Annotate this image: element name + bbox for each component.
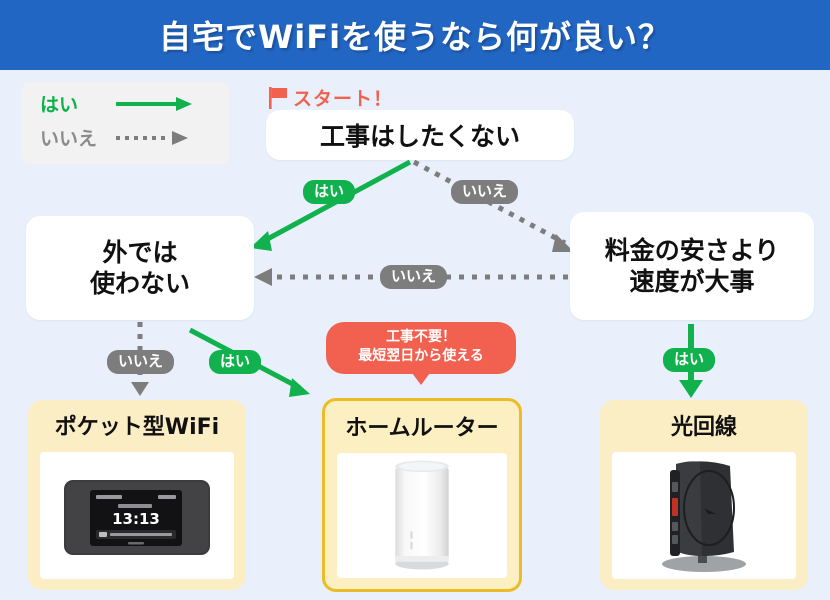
legend-label-yes: はい bbox=[40, 90, 114, 117]
callout-line1: 工事不要！ bbox=[326, 328, 516, 347]
card-title-home-router: ホームルーター bbox=[325, 401, 519, 442]
start-label-text: スタート！ bbox=[293, 84, 393, 111]
result-card-pocket-wifi[interactable]: ポケット型WiFi 13:13 bbox=[28, 400, 246, 590]
legend-label-no: いいえ bbox=[40, 124, 114, 151]
edge-start-to-left-yes bbox=[250, 162, 410, 251]
result-card-fiber[interactable]: 光回線 bbox=[600, 400, 808, 590]
badge-middle-no: いいえ bbox=[380, 265, 447, 289]
node-left-line1: 外では bbox=[90, 237, 190, 268]
legend-box: はい いいえ bbox=[22, 82, 230, 164]
result-card-home-router[interactable]: ホームルーター bbox=[322, 398, 522, 592]
dotted-arrow-icon bbox=[114, 127, 196, 149]
callout-line2: 最短翌日から使える bbox=[326, 347, 516, 366]
card-title-fiber: 光回線 bbox=[600, 400, 808, 441]
legend-row-yes: はい bbox=[40, 90, 196, 117]
badge-start-yes: はい bbox=[303, 180, 355, 204]
node-right-question: 料金の安さより 速度が大事 bbox=[570, 212, 814, 320]
svg-text:13:13: 13:13 bbox=[112, 510, 160, 528]
solid-arrow-icon bbox=[114, 93, 196, 115]
fiber-router-device-icon bbox=[612, 452, 796, 579]
node-right-line1: 料金の安さより bbox=[605, 235, 780, 266]
node-left-line2: 使わない bbox=[90, 268, 190, 299]
red-flag-icon bbox=[268, 87, 288, 109]
edge-start-to-right-no bbox=[414, 162, 574, 252]
card-photo-fiber bbox=[612, 452, 796, 579]
badge-right-yes: はい bbox=[663, 348, 715, 372]
legend-row-no: いいえ bbox=[40, 124, 196, 151]
page-title: 自宅でWiFiを使うなら何が良い？ bbox=[159, 12, 671, 58]
card-photo-pocket-wifi: 13:13 bbox=[40, 452, 234, 579]
header-bar: 自宅でWiFiを使うなら何が良い？ bbox=[0, 0, 830, 70]
node-left-question: 外では 使わない bbox=[26, 216, 254, 320]
flowchart-infographic: 自宅でWiFiを使うなら何が良い？ はい いいえ bbox=[0, 0, 830, 600]
start-label: スタート！ bbox=[268, 84, 393, 111]
badge-start-no: いいえ bbox=[451, 180, 518, 204]
node-right-line2: 速度が大事 bbox=[605, 266, 780, 297]
home-router-device-icon bbox=[337, 453, 507, 578]
badge-left-yes: はい bbox=[209, 350, 261, 374]
pocket-wifi-device-icon: 13:13 bbox=[40, 452, 234, 579]
badge-left-no: いいえ bbox=[107, 350, 174, 374]
node-start-text: 工事はしたくない bbox=[320, 117, 520, 153]
callout-bubble: 工事不要！ 最短翌日から使える bbox=[326, 322, 516, 374]
node-start-question: 工事はしたくない bbox=[266, 110, 574, 160]
card-photo-home-router bbox=[337, 453, 507, 578]
card-title-pocket-wifi: ポケット型WiFi bbox=[28, 400, 246, 441]
